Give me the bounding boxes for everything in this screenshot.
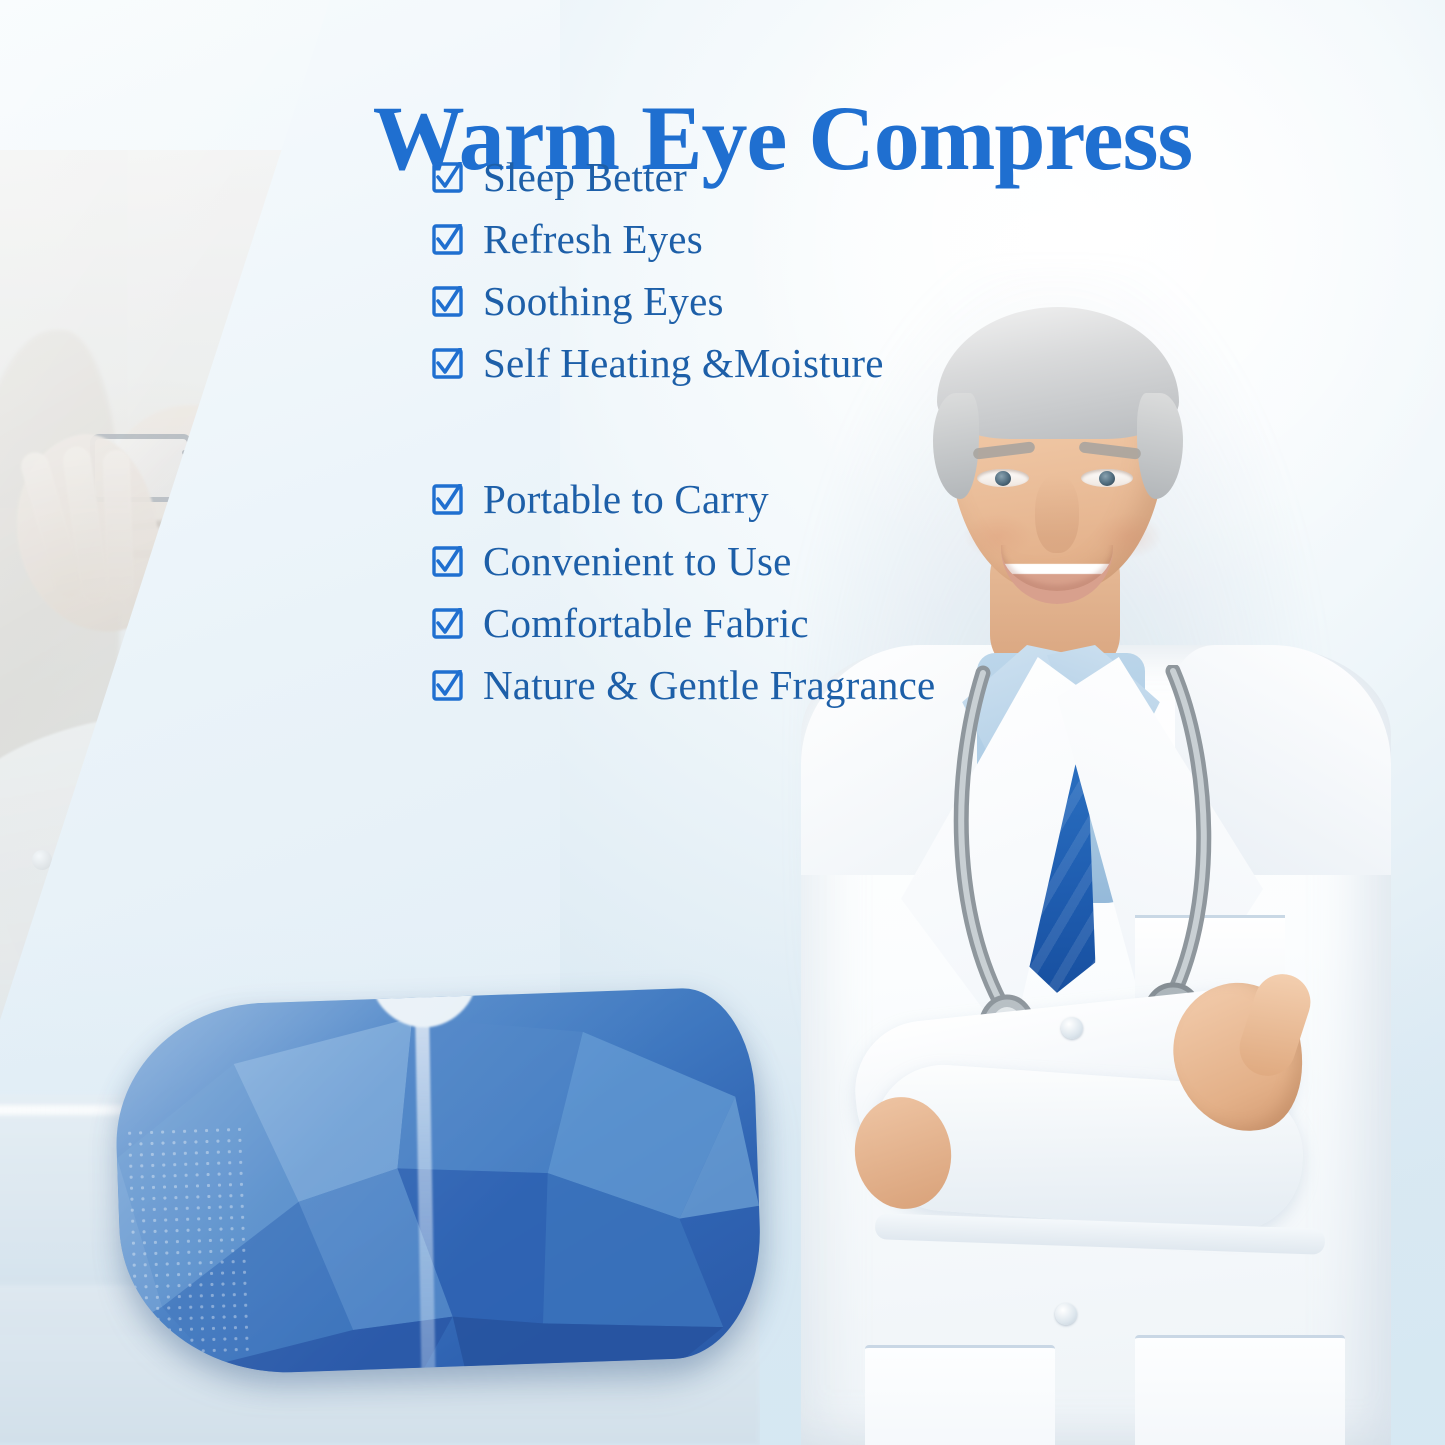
coat-pocket-right bbox=[1135, 1335, 1345, 1445]
checked-box-icon bbox=[432, 670, 463, 701]
benefit-label: Sleep Better bbox=[483, 153, 687, 201]
checked-box-icon bbox=[432, 484, 463, 515]
benefit-item: Sleep Better bbox=[432, 146, 1132, 208]
benefit-label: Refresh Eyes bbox=[483, 215, 703, 263]
coat-button bbox=[1055, 1303, 1077, 1325]
benefit-label: Soothing Eyes bbox=[483, 277, 724, 325]
eye-mask-body bbox=[112, 986, 765, 1378]
coat-pocket-left bbox=[865, 1345, 1055, 1445]
benefits-group-one: Sleep Better Refresh Eyes Soothing Eyes … bbox=[432, 146, 1132, 394]
product-marketing-image: Warm Eye Compress Sleep Better Refresh E… bbox=[0, 0, 1445, 1445]
benefit-item: Comfortable Fabric bbox=[432, 592, 1132, 654]
checked-box-icon bbox=[432, 546, 463, 577]
benefit-item: Refresh Eyes bbox=[432, 208, 1132, 270]
benefits-group-two: Portable to Carry Convenient to Use Comf… bbox=[432, 468, 1132, 716]
mask-gloss-highlight bbox=[112, 986, 765, 1378]
benefit-item: Portable to Carry bbox=[432, 468, 1132, 530]
checked-box-icon bbox=[432, 348, 463, 379]
checked-box-icon bbox=[432, 224, 463, 255]
benefit-label: Convenient to Use bbox=[483, 537, 792, 585]
benefit-item: Convenient to Use bbox=[432, 530, 1132, 592]
checked-box-icon bbox=[432, 286, 463, 317]
benefit-item: Soothing Eyes bbox=[432, 270, 1132, 332]
benefit-item: Self Heating &Moisture bbox=[432, 332, 1132, 394]
benefit-label: Portable to Carry bbox=[483, 475, 769, 523]
coat-button bbox=[1061, 1017, 1083, 1039]
benefit-label: Self Heating &Moisture bbox=[483, 339, 884, 387]
benefit-item: Nature & Gentle Fragrance bbox=[432, 654, 1132, 716]
product-eye-mask bbox=[118, 997, 780, 1397]
benefit-label: Nature & Gentle Fragrance bbox=[483, 661, 935, 709]
checked-box-icon bbox=[432, 608, 463, 639]
benefit-label: Comfortable Fabric bbox=[483, 599, 809, 647]
checked-box-icon bbox=[432, 162, 463, 193]
